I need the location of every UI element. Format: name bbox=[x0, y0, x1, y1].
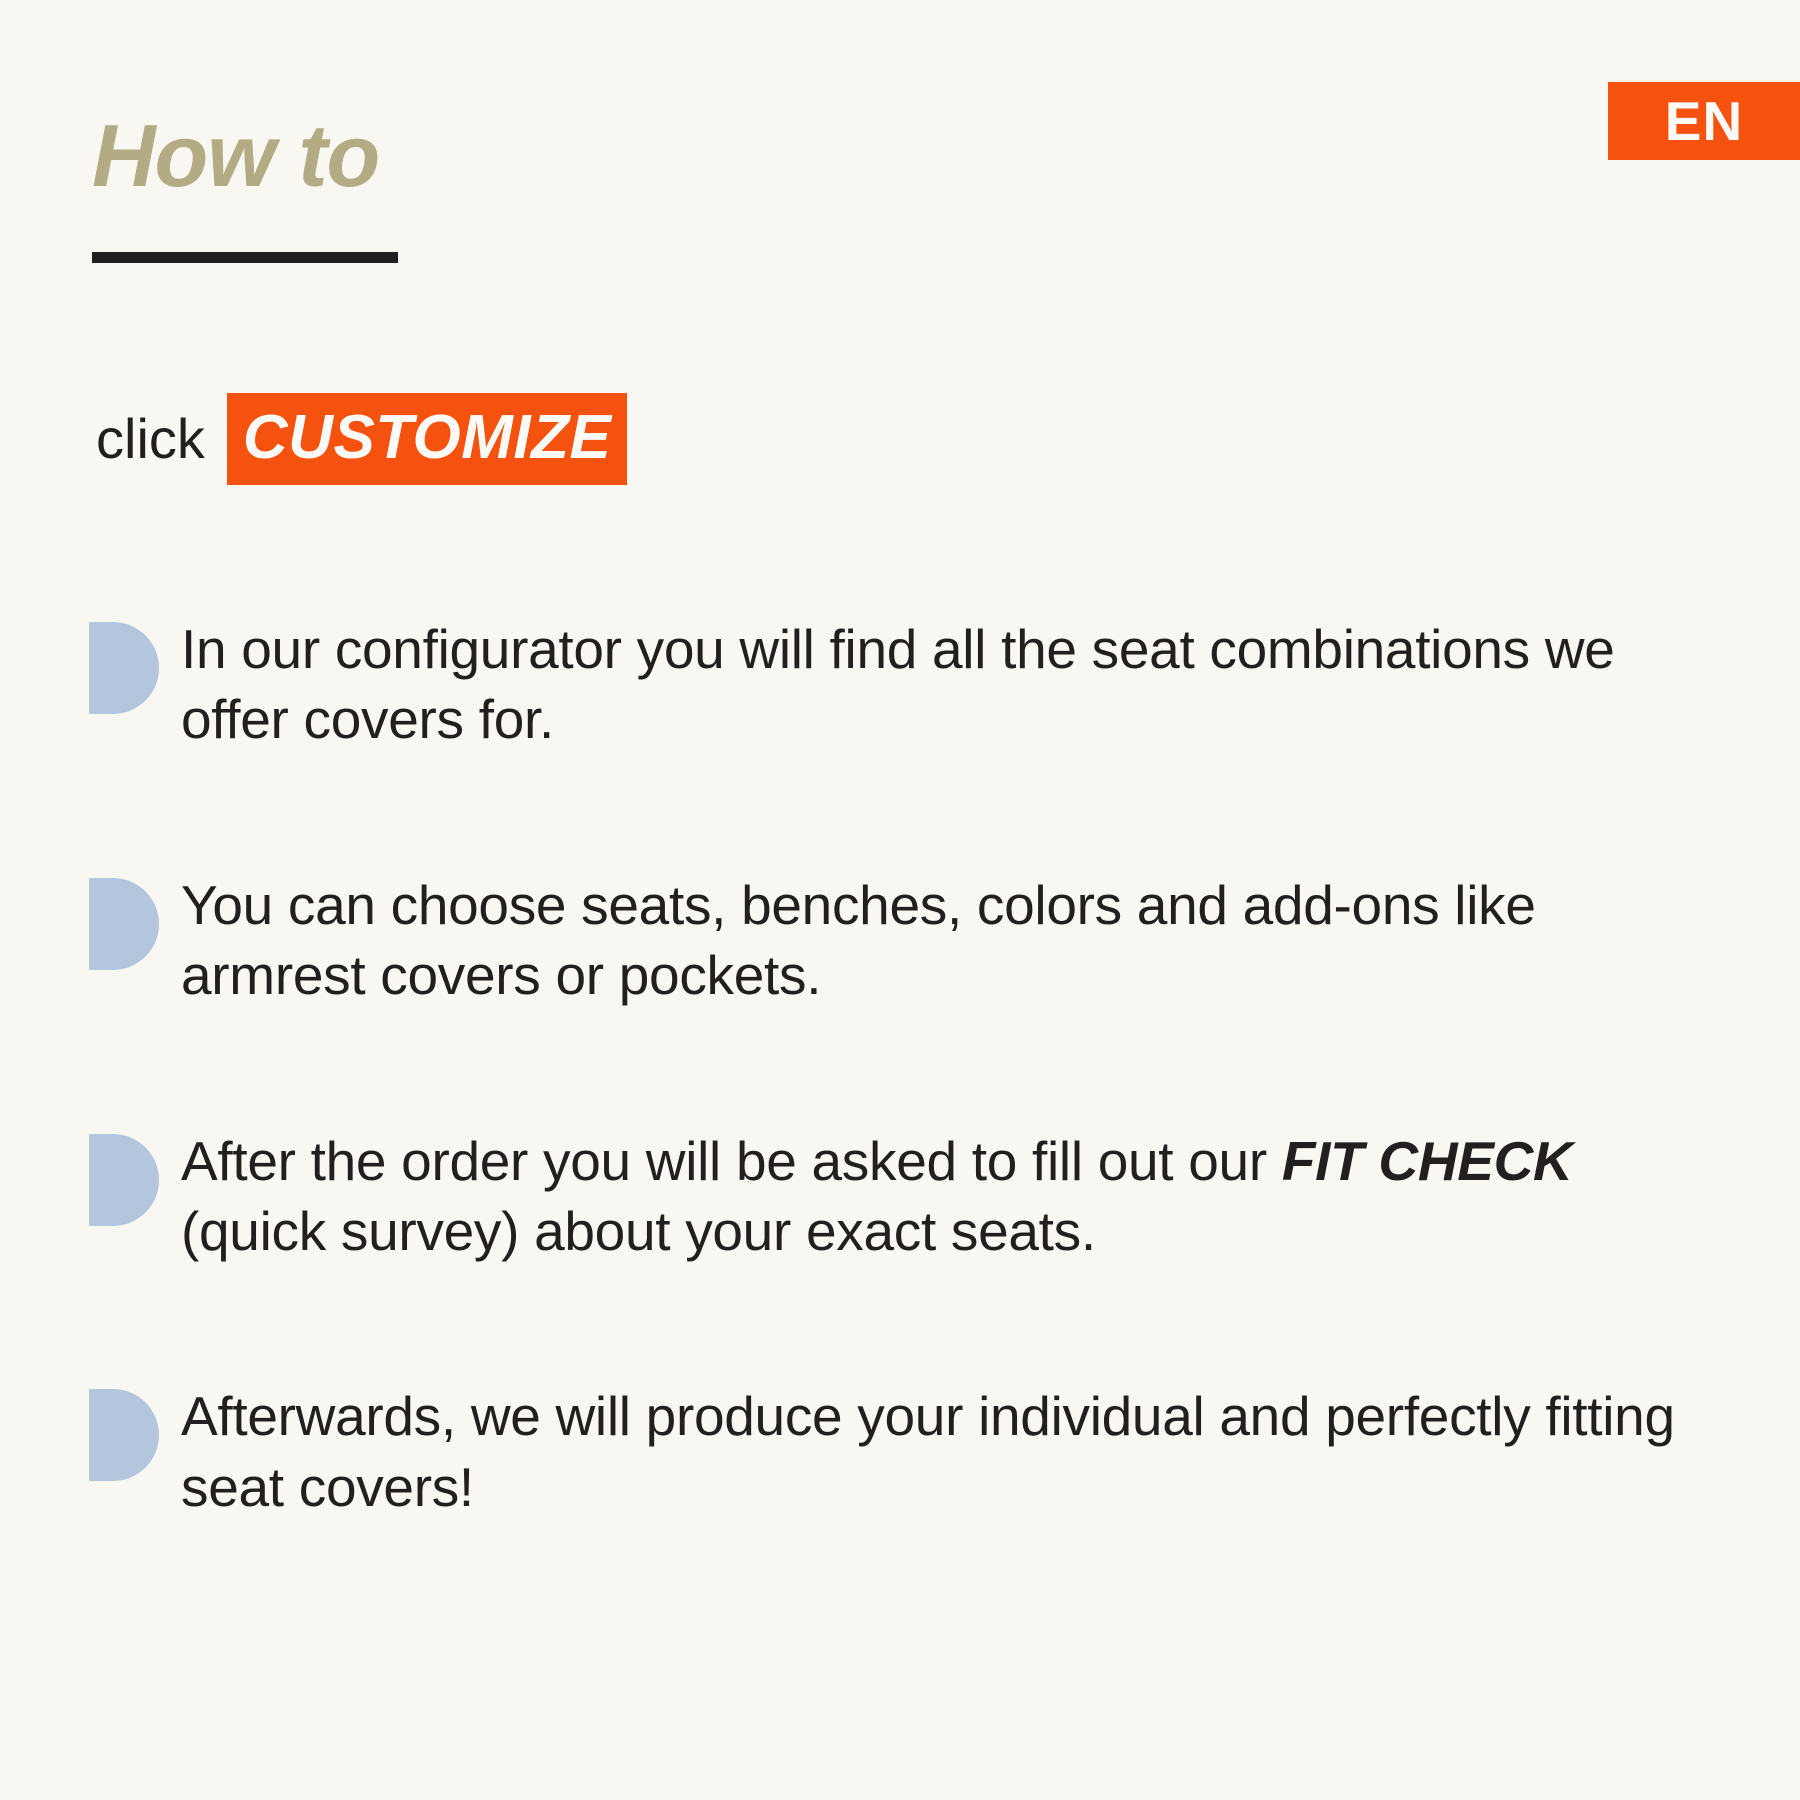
d-shape-bullet-icon bbox=[89, 622, 159, 714]
header: How to bbox=[92, 112, 398, 263]
list-item-text: In our configurator you will find all th… bbox=[181, 614, 1709, 755]
d-shape-bullet-icon bbox=[89, 878, 159, 970]
list-item-text: Afterwards, we will produce your individ… bbox=[181, 1381, 1709, 1522]
title-underline-rule bbox=[92, 252, 398, 263]
list-item: In our configurator you will find all th… bbox=[89, 614, 1709, 755]
list-item-text-part: Afterwards, we will produce your individ… bbox=[181, 1385, 1675, 1517]
language-badge[interactable]: EN bbox=[1608, 82, 1800, 160]
list-item-text-part: You can choose seats, benches, colors an… bbox=[181, 874, 1536, 1006]
d-shape-bullet-icon bbox=[89, 1134, 159, 1226]
page-title: How to bbox=[92, 112, 398, 200]
cta-prefix-label: click bbox=[96, 411, 205, 467]
list-item: After the order you will be asked to fil… bbox=[89, 1126, 1709, 1267]
call-to-action-row: click CUSTOMIZE bbox=[96, 393, 627, 485]
language-badge-label: EN bbox=[1665, 94, 1743, 149]
customize-button[interactable]: CUSTOMIZE bbox=[227, 393, 627, 485]
list-item: Afterwards, we will produce your individ… bbox=[89, 1381, 1709, 1522]
fit-check-emphasis: FIT CHECK bbox=[1282, 1130, 1573, 1192]
list-item-text: You can choose seats, benches, colors an… bbox=[181, 870, 1709, 1011]
list-item-text-part: In our configurator you will find all th… bbox=[181, 618, 1615, 750]
list-item-text: After the order you will be asked to fil… bbox=[181, 1126, 1709, 1267]
instructions-list: In our configurator you will find all th… bbox=[89, 614, 1709, 1522]
list-item-text-part: (quick survey) about your exact seats. bbox=[181, 1200, 1096, 1262]
list-item-text-part: After the order you will be asked to fil… bbox=[181, 1130, 1282, 1192]
list-item: You can choose seats, benches, colors an… bbox=[89, 870, 1709, 1011]
d-shape-bullet-icon bbox=[89, 1389, 159, 1481]
